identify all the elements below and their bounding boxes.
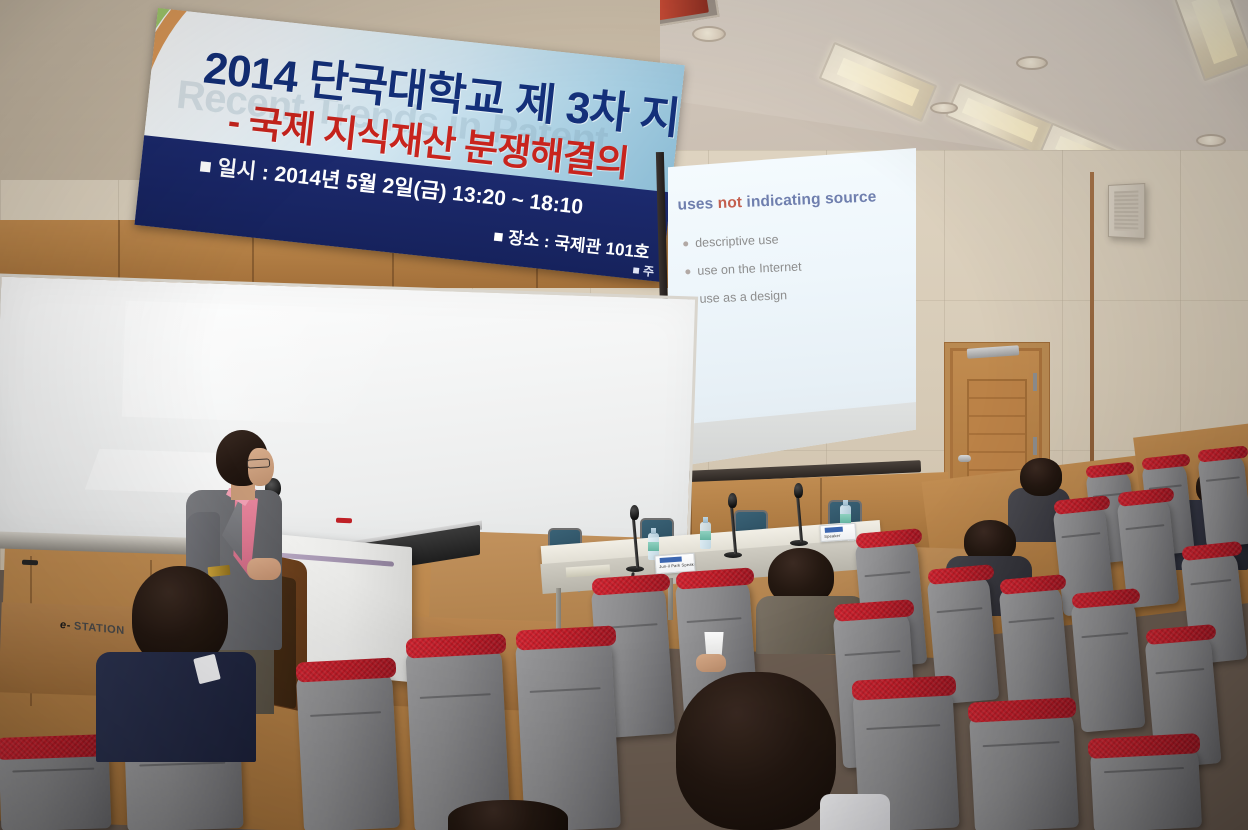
mic-base [724,552,742,558]
screen-surface: uses not indicating source descriptive u… [668,148,916,468]
whiteboard-glare [122,301,507,429]
audience-head [1020,458,1062,496]
slide-bullet-1-text: descriptive use [695,233,779,250]
slide-bullet-3-text: use as a design [699,288,787,306]
audience-body [96,652,256,762]
downlight-2 [1016,56,1048,70]
wall-pillar-edge [1090,172,1094,472]
placard-name-text: Jun-il Park Speaker [659,562,692,569]
downlight-1 [692,26,726,42]
slide-bullet-3: use as a design [687,288,787,306]
door-closer-icon [967,345,1020,359]
audience-head [676,672,836,830]
speaker-hands [247,558,281,580]
slide-title-pre: uses [677,195,718,214]
auditorium-seat[interactable] [969,709,1079,830]
marker-red [336,518,352,524]
auditorium-seat[interactable] [1070,597,1145,732]
podium-brand-e: e- [60,619,71,632]
coffee-cup-hand [696,654,726,672]
banner-host: ■ 주 [632,261,655,280]
mic-head-icon [794,483,803,498]
water-bottle [700,522,711,549]
downlight-3 [930,102,958,114]
auditorium-seat[interactable] [999,584,1072,715]
door-handle-icon[interactable] [958,455,971,462]
door-hinge-icon [1033,373,1037,391]
bullet-dot-icon [683,241,688,246]
auditorium-seat[interactable] [1197,452,1248,548]
glasses-icon [247,458,270,468]
whiteboard [0,273,698,558]
slide-bullet-2-text: use on the Internet [697,260,802,278]
lecture-hall-photo: Recent Trends in Patent 2014 단국대학교 제 3차 … [0,0,1248,830]
downlight-4 [1196,134,1226,147]
slide-title: uses not indicating source [677,188,877,214]
bottle-label [700,531,711,540]
bottle-label [648,542,659,551]
slide-title-highlight: not [717,194,742,212]
slide-bullet-1: descriptive use [683,233,779,251]
mic-base [626,566,644,572]
name-placard: Speaker [819,523,856,542]
audience-head [448,800,568,830]
slide-title-post: indicating source [742,188,877,211]
slide-bullet-2: use on the Internet [685,260,802,279]
presentation-slide: uses not indicating source descriptive u… [661,143,922,473]
marker-black [22,560,38,566]
bullet-dot-icon [685,269,690,274]
wall-speaker-icon [1108,183,1145,239]
auditorium-seat[interactable] [296,670,400,830]
bottle-label [840,514,851,523]
audience-shoulder [820,794,890,830]
mic-head-icon [728,493,737,508]
placard-name-text: Speaker [824,532,853,539]
door-hinge-icon [1033,437,1037,455]
projection-screen: uses not indicating source descriptive u… [668,148,916,468]
mic-head-icon [630,505,639,520]
panel-table-leg [556,588,561,630]
